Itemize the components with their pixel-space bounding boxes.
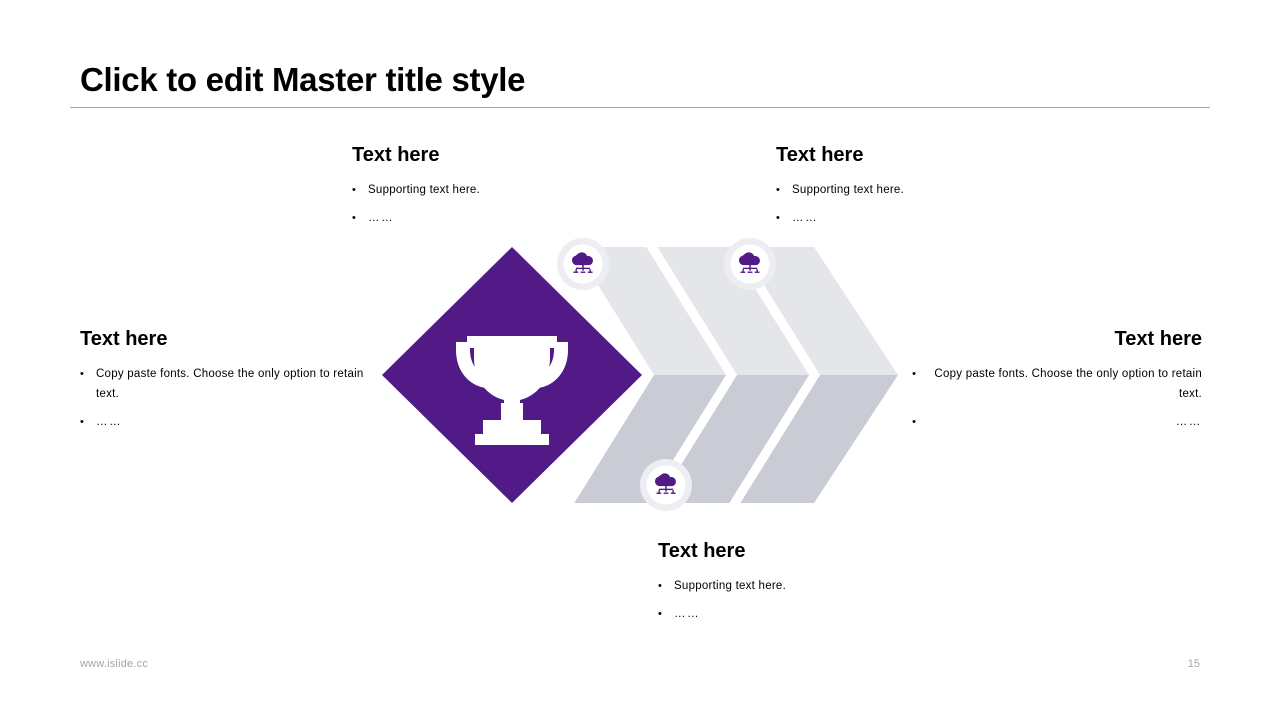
badge-upper-left[interactable] <box>557 238 609 290</box>
bullet-text: …… <box>674 604 998 624</box>
bullet-text: Copy paste fonts. Choose the only option… <box>96 364 380 404</box>
list-item: • Supporting text here. <box>658 576 998 596</box>
block-bottom-bullets: • Supporting text here. • …… <box>658 576 998 624</box>
block-left-heading: Text here <box>80 326 380 352</box>
process-diagram <box>370 230 910 520</box>
list-item: …… • <box>900 412 1202 432</box>
diagram-svg <box>370 230 910 520</box>
bullet-marker: • <box>352 208 368 228</box>
bullet-text: …… <box>96 412 380 432</box>
list-item: Copy paste fonts. Choose the only option… <box>900 364 1202 404</box>
text-block-left[interactable]: Text here • Copy paste fonts. Choose the… <box>80 326 380 440</box>
block-right-top-heading: Text here <box>776 142 1116 168</box>
block-bottom-heading: Text here <box>658 538 998 564</box>
badge-upper-right[interactable] <box>724 238 776 290</box>
bullet-marker: • <box>776 208 792 228</box>
bullet-marker: • <box>80 412 96 432</box>
page-number: 15 <box>1188 658 1200 670</box>
bullet-marker: • <box>352 180 368 200</box>
badge-lower-middle[interactable] <box>640 459 692 511</box>
bullet-text: …… <box>792 208 1116 228</box>
block-right-heading: Text here <box>900 326 1202 352</box>
list-item: • …… <box>776 208 1116 228</box>
bullet-marker: • <box>80 364 96 384</box>
list-item: • …… <box>80 412 380 432</box>
text-block-right-top[interactable]: Text here • Supporting text here. • …… <box>776 142 1116 236</box>
list-item: • …… <box>658 604 998 624</box>
block-top-bullets: • Supporting text here. • …… <box>352 180 692 228</box>
block-top-heading: Text here <box>352 142 692 168</box>
bullet-text: …… <box>368 208 692 228</box>
bullet-marker: • <box>658 576 674 596</box>
list-item: • Supporting text here. <box>776 180 1116 200</box>
list-item: • …… <box>352 208 692 228</box>
block-right-bullets: Copy paste fonts. Choose the only option… <box>900 364 1202 432</box>
text-block-top[interactable]: Text here • Supporting text here. • …… <box>352 142 692 236</box>
bullet-text: Copy paste fonts. Choose the only option… <box>916 364 1202 404</box>
title-divider <box>70 107 1210 108</box>
bullet-text: Supporting text here. <box>674 576 998 596</box>
page-title[interactable]: Click to edit Master title style <box>80 58 1210 102</box>
bullet-marker: • <box>900 364 916 384</box>
list-item: • Supporting text here. <box>352 180 692 200</box>
slide-canvas: Click to edit Master title style <box>0 0 1280 720</box>
text-block-bottom[interactable]: Text here • Supporting text here. • …… <box>658 538 998 632</box>
block-right-top-bullets: • Supporting text here. • …… <box>776 180 1116 228</box>
bullet-text: Supporting text here. <box>792 180 1116 200</box>
list-item: • Copy paste fonts. Choose the only opti… <box>80 364 380 404</box>
bullet-marker: • <box>900 412 916 432</box>
bullet-text: Supporting text here. <box>368 180 692 200</box>
footer-url[interactable]: www.islide.cc <box>80 658 148 670</box>
bullet-text: …… <box>916 412 1202 432</box>
bullet-marker: • <box>658 604 674 624</box>
bullet-marker: • <box>776 180 792 200</box>
text-block-right[interactable]: Text here Copy paste fonts. Choose the o… <box>900 326 1202 440</box>
block-left-bullets: • Copy paste fonts. Choose the only opti… <box>80 364 380 432</box>
